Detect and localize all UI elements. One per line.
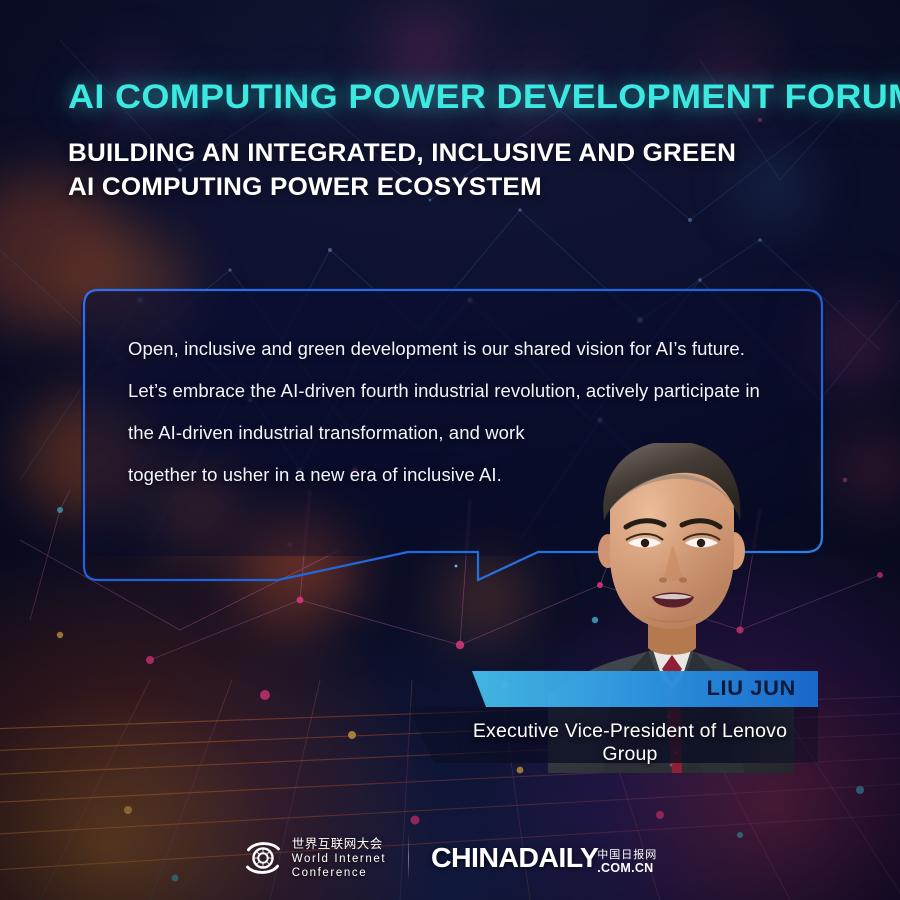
- chinadaily-logo: CHINADAILY 中国日报网 .COM.CN: [431, 842, 657, 874]
- wic-chinese-name: 世界互联网大会: [292, 836, 386, 851]
- wic-english-line-1: World Internet: [292, 852, 386, 866]
- forum-title: AI COMPUTING POWER DEVELOPMENT FORUM: [68, 78, 900, 117]
- quote-line: Open, inclusive and green development is…: [128, 328, 798, 370]
- wic-eye-icon: [243, 838, 283, 878]
- footer-logos: 世界互联网大会 World Internet Conference CHINAD…: [0, 816, 900, 900]
- speaker-name-banner: LIU JUN: [472, 671, 818, 707]
- wic-english-line-2: Conference: [292, 866, 386, 880]
- speaker-title: Executive Vice-President of Lenovo Group: [455, 720, 805, 766]
- heading-block: AI COMPUTING POWER DEVELOPMENT FORUM BUI…: [68, 78, 868, 204]
- forum-subtitle-line-2: AI COMPUTING POWER ECOSYSTEM: [68, 171, 900, 205]
- world-internet-conference-logo: 世界互联网大会 World Internet Conference: [243, 836, 386, 879]
- chinadaily-logo-side: 中国日报网 .COM.CN: [597, 849, 657, 875]
- speaker-name: LIU JUN: [707, 677, 796, 701]
- forum-subtitle: BUILDING AN INTEGRATED, INCLUSIVE AND GR…: [68, 137, 900, 204]
- quote-line: Let’s embrace the AI-driven fourth indus…: [128, 370, 798, 412]
- forum-subtitle-line-1: BUILDING AN INTEGRATED, INCLUSIVE AND GR…: [68, 137, 900, 171]
- wic-logo-text: 世界互联网大会 World Internet Conference: [292, 836, 386, 879]
- chinadaily-domain: .COM.CN: [597, 862, 653, 875]
- chinadaily-wordmark: CHINADAILY: [431, 842, 598, 874]
- footer-divider: [408, 835, 409, 881]
- chinadaily-chinese-name: 中国日报网: [597, 849, 657, 860]
- poster-canvas: AI COMPUTING POWER DEVELOPMENT FORUM BUI…: [0, 0, 900, 900]
